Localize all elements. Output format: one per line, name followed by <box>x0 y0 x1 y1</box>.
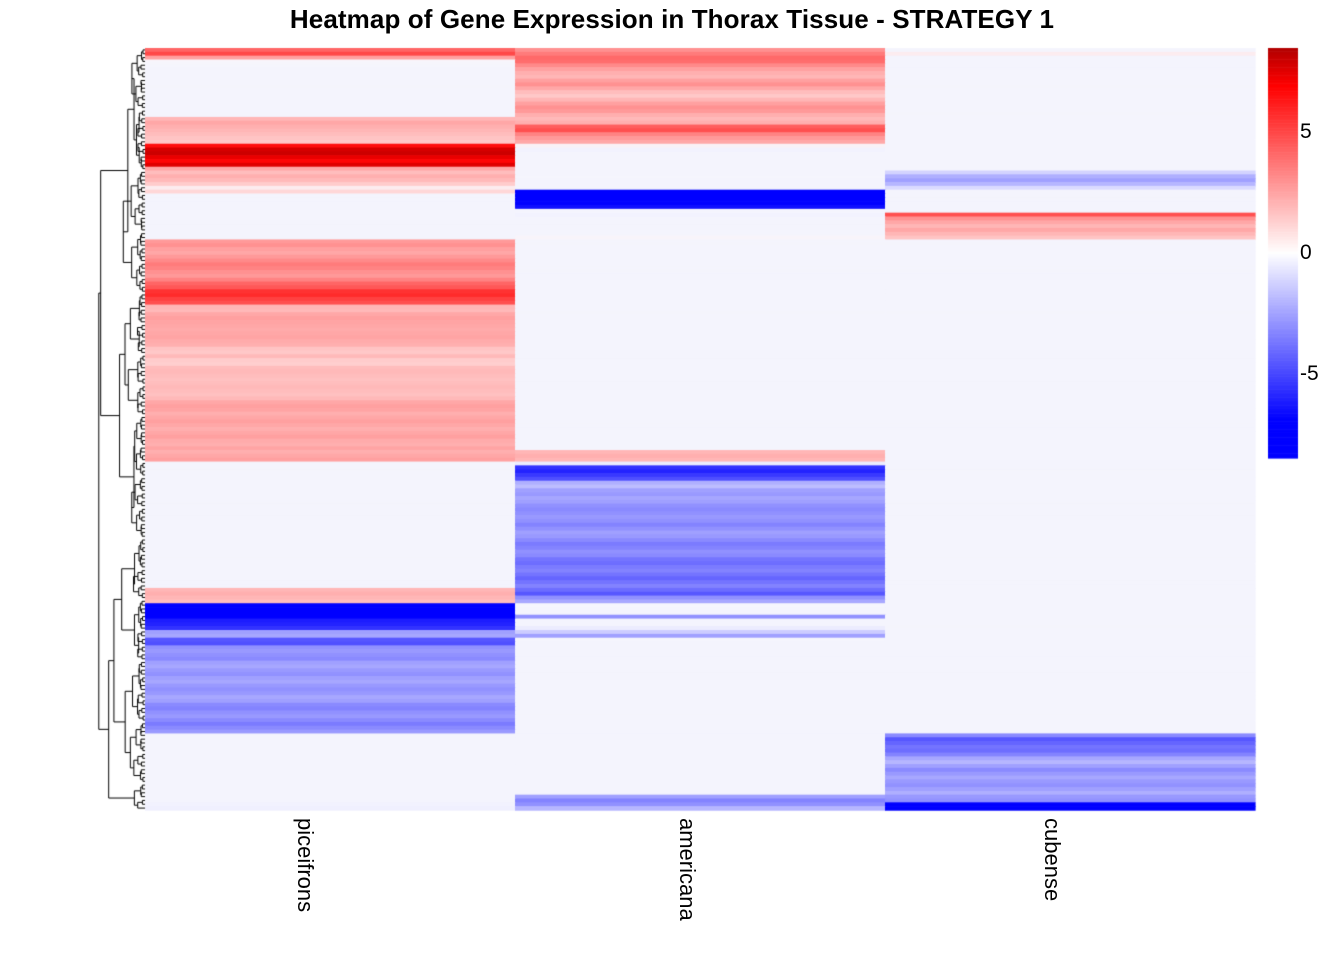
heatmap-canvas <box>0 0 1344 960</box>
colorbar-tick-labels: 50-5 <box>1300 48 1344 458</box>
column-label-cubense: cubense <box>1039 818 1065 901</box>
colorbar-tick-2: -5 <box>1300 362 1319 386</box>
colorbar-tick-1: 0 <box>1300 241 1312 265</box>
heatmap-figure: Heatmap of Gene Expression in Thorax Tis… <box>0 0 1344 960</box>
column-label-americana: americana <box>674 818 700 921</box>
column-label-piceifrons: piceifrons <box>292 818 318 912</box>
colorbar-tick-0: 5 <box>1300 120 1312 144</box>
